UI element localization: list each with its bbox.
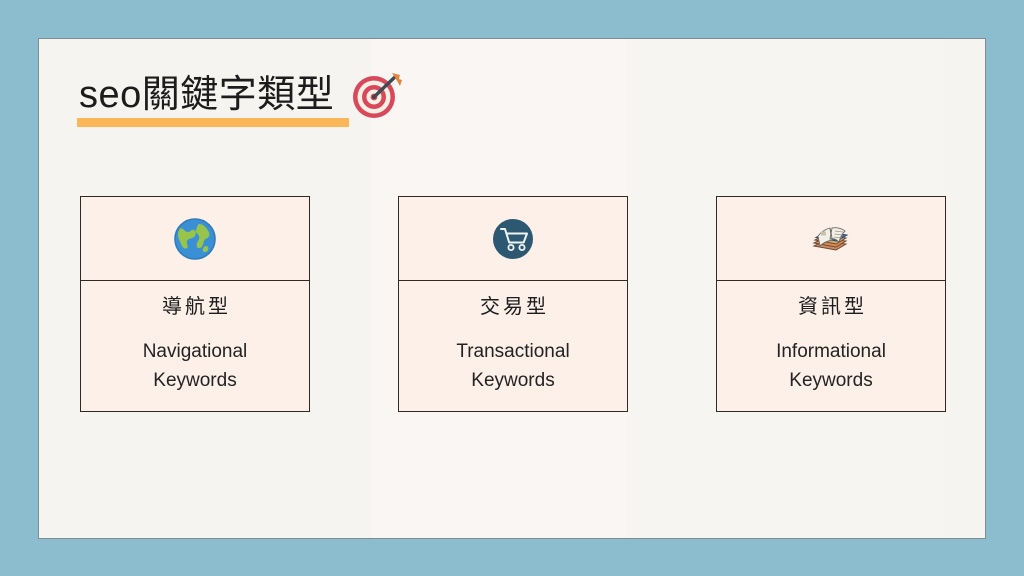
card-label-en: Transactional Keywords — [456, 337, 569, 396]
keyword-type-card-row: 導航型 Navigational Keywords — [80, 196, 946, 412]
card-label-en-line1: Transactional — [456, 337, 569, 366]
page-title: seo關鍵字類型 — [79, 76, 334, 114]
slide-panel: seo關鍵字類型 — [38, 38, 986, 539]
card-label-zh: 導航型 — [159, 295, 231, 319]
card-navigational[interactable]: 導航型 Navigational Keywords — [80, 196, 310, 412]
card-informational[interactable]: 資訊型 Informational Keywords — [716, 196, 946, 412]
card-text-cell: 導航型 Navigational Keywords — [81, 281, 309, 411]
card-label-en-line2: Keywords — [456, 366, 569, 395]
books-icon — [808, 216, 854, 262]
globe-showing-americas-icon — [172, 216, 218, 262]
title-underline-accent — [77, 118, 349, 127]
slide-canvas: seo關鍵字類型 — [0, 0, 1024, 576]
card-label-zh: 交易型 — [477, 295, 549, 319]
card-label-en-line1: Navigational — [143, 337, 248, 366]
card-icon-cell — [81, 197, 309, 281]
dartboard-target-icon — [348, 67, 404, 123]
card-icon-cell — [399, 197, 627, 281]
card-label-en-line2: Keywords — [143, 366, 248, 395]
page-title-group: seo關鍵字類型 — [79, 67, 404, 123]
card-label-en-line2: Keywords — [776, 366, 886, 395]
shopping-cart-icon — [490, 216, 536, 262]
card-transactional[interactable]: 交易型 Transactional Keywords — [398, 196, 628, 412]
card-label-zh: 資訊型 — [795, 295, 867, 319]
card-label-en-line1: Informational — [776, 337, 886, 366]
card-icon-cell — [717, 197, 945, 281]
card-text-cell: 交易型 Transactional Keywords — [399, 281, 627, 411]
card-label-en: Informational Keywords — [776, 337, 886, 396]
card-text-cell: 資訊型 Informational Keywords — [717, 281, 945, 411]
card-label-en: Navigational Keywords — [143, 337, 248, 396]
